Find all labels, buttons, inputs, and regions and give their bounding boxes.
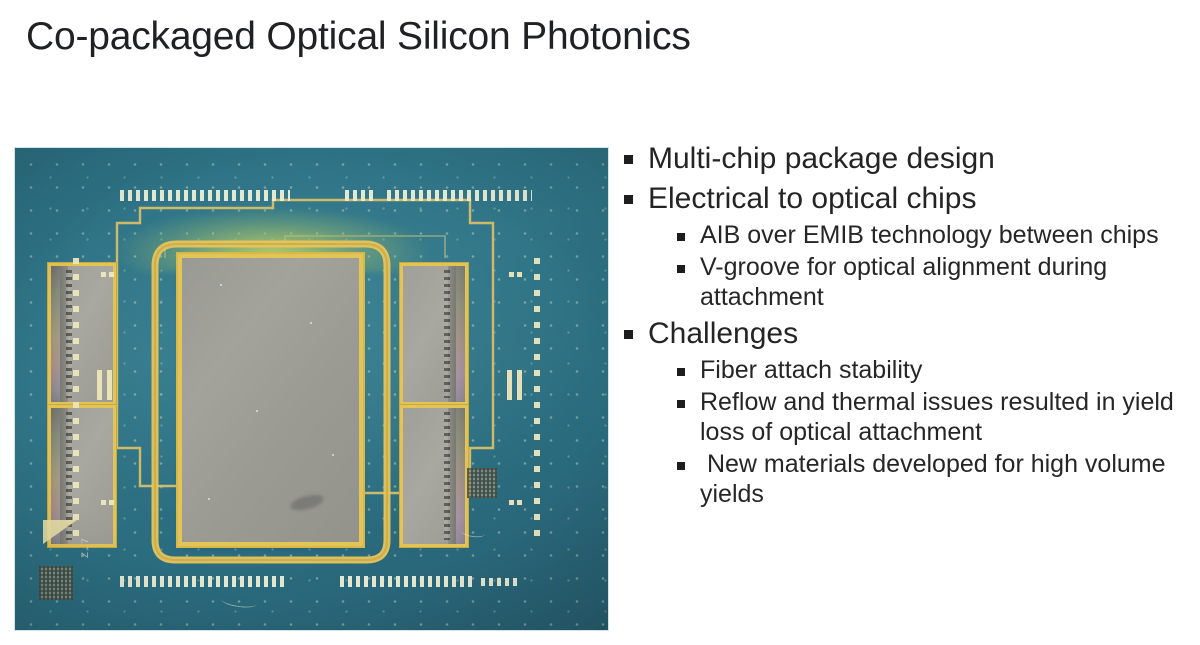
main-electrical-die [182, 258, 359, 542]
optical-chiplet-right-bottom [403, 408, 465, 544]
bullet-marker-icon [624, 195, 633, 204]
bullet-level2-item: V-groove for optical alignment during at… [674, 253, 1182, 312]
bullet-text: New materials developed for high volume … [700, 450, 1182, 509]
bullet-text: AIB over EMIB technology between chips [700, 221, 1182, 251]
bullet-text: Challenges [648, 315, 1182, 353]
solder-pad-row-bottom-right [340, 576, 475, 587]
pad-cluster-right [507, 370, 527, 400]
bullet-marker-icon [677, 462, 685, 470]
pad-column-left [73, 258, 79, 538]
solder-pad-row-top-mid [345, 190, 377, 201]
bullet-level2-item: Fiber attach stability [674, 356, 1182, 386]
bullet-marker-icon [677, 233, 685, 241]
substrate-rotated-label: Z.7 [81, 537, 92, 558]
bullet-marker-icon [624, 155, 633, 164]
bullet-text: Multi-chip package design [648, 140, 1182, 178]
pin1-triangle-icon [43, 520, 77, 544]
optical-chiplet-right-top [403, 266, 465, 402]
solder-pad-row-top-right [387, 190, 532, 201]
bullet-text: Fiber attach stability [700, 356, 1182, 386]
bullet-level1-item: Multi-chip package design [622, 140, 1182, 178]
page-title: Co-packaged Optical Silicon Photonics [26, 14, 1026, 60]
bullet-level1-item: Electrical to optical chips [622, 180, 1182, 218]
bullet-marker-icon [677, 368, 685, 376]
bullet-level2-item: AIB over EMIB technology between chips [674, 221, 1182, 251]
pad-cluster-left [97, 370, 117, 400]
bullet-marker-icon [677, 400, 685, 408]
bullet-marker-icon [624, 330, 633, 339]
package-micrograph-image: Z.7 [15, 148, 608, 630]
datamatrix-left-icon [39, 566, 73, 600]
bullet-level2-item: Reflow and thermal issues resulted in yi… [674, 388, 1182, 447]
pad-column-right [534, 258, 540, 538]
bullet-text: Electrical to optical chips [648, 180, 1182, 218]
slide-canvas: Co-packaged Optical Silicon Photonics [0, 0, 1200, 645]
solder-pad-row-bottom-far-right [481, 578, 519, 586]
bullet-level1-item: Challenges [622, 315, 1182, 353]
bullet-level2-item: New materials developed for high volume … [674, 450, 1182, 509]
solder-pad-row-top-left [120, 190, 290, 201]
solder-pad-row-bottom-left [120, 576, 285, 587]
bullet-marker-icon [677, 265, 685, 273]
datamatrix-right-icon [467, 468, 497, 498]
bullet-text: Reflow and thermal issues resulted in yi… [700, 388, 1182, 447]
bullet-list: Multi-chip package design Electrical to … [622, 140, 1182, 512]
bullet-text: V-groove for optical alignment during at… [700, 253, 1182, 312]
